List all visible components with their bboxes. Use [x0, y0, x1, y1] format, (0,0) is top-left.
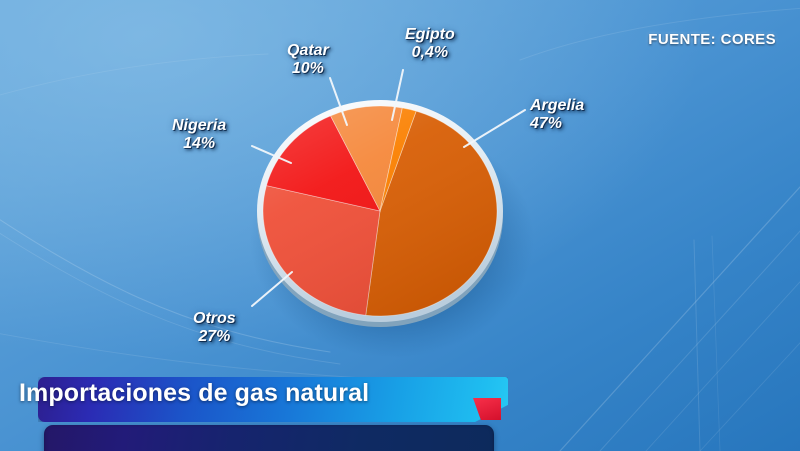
callout-otros-name: Otros — [193, 310, 236, 328]
pie-chart — [0, 0, 800, 380]
pie-rim — [257, 100, 503, 322]
source-credit: FUENTE: CORES — [648, 31, 776, 48]
callout-argelia: Argelia 47% — [530, 97, 584, 133]
banner-title-text: Importaciones de gas natural — [19, 379, 369, 408]
pie-sheen — [263, 106, 497, 316]
callout-nigeria: Nigeria 14% — [172, 117, 226, 153]
callout-nigeria-name: Nigeria — [172, 117, 226, 135]
pie-shadow — [250, 122, 534, 358]
callout-nigeria-value: 14% — [172, 135, 226, 153]
callout-egipto-value: 0,4% — [405, 44, 455, 62]
banner-sub-bar — [44, 425, 494, 451]
pie-slice-argelia — [366, 111, 497, 316]
pie-slice-qatar — [331, 106, 403, 211]
pie-slice-group — [263, 106, 497, 316]
callout-otros: Otros 27% — [193, 310, 236, 346]
leader-line-otros — [252, 272, 292, 306]
leader-line-argelia — [464, 110, 525, 147]
pie-slice-egipto — [380, 108, 416, 211]
callout-argelia-value: 47% — [530, 115, 584, 133]
callout-qatar-value: 10% — [287, 60, 329, 78]
pie-rim-side — [257, 105, 503, 327]
callout-qatar-name: Qatar — [287, 42, 329, 60]
callout-egipto-name: Egipto — [405, 26, 455, 44]
leader-line-egipto — [392, 70, 403, 120]
callout-otros-value: 27% — [193, 328, 236, 346]
pie-slice-nigeria — [266, 116, 380, 211]
leader-line-qatar — [330, 78, 347, 125]
infographic-screen: FUENTE: CORES — [0, 0, 800, 451]
lower-third-banner: Importaciones de gas natural — [0, 371, 800, 451]
callout-egipto: Egipto 0,4% — [405, 26, 455, 62]
leader-line-nigeria — [252, 146, 291, 163]
pie-slice-otros — [263, 186, 380, 316]
callout-qatar: Qatar 10% — [287, 42, 329, 78]
callout-argelia-name: Argelia — [530, 97, 584, 115]
